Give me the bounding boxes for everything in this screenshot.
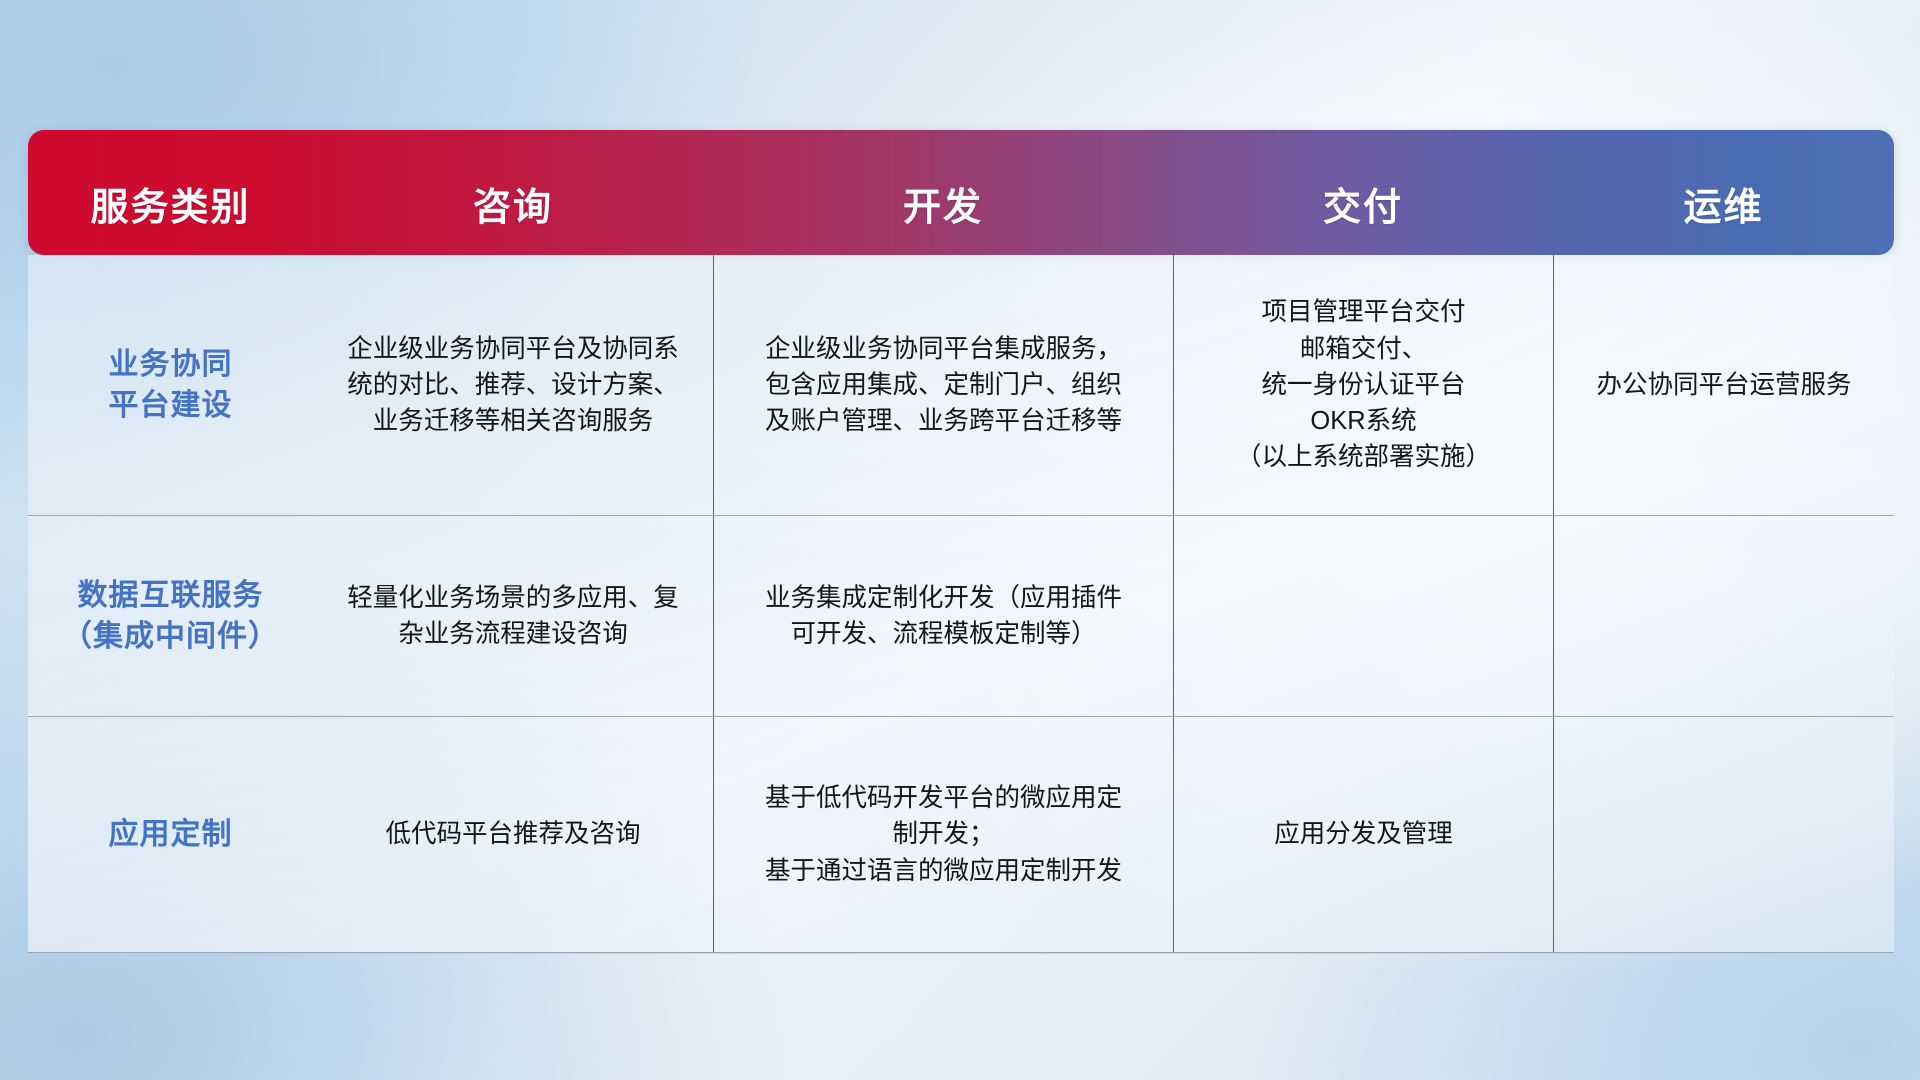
cell-consulting: 低代码平台推荐及咨询 <box>313 717 713 952</box>
table-header-row: 服务类别 咨询 开发 交付 运维 <box>28 130 1894 255</box>
cell-development: 企业级业务协同平台集成服务， 包含应用集成、定制门户、组织 及账户管理、业务跨平… <box>713 255 1173 515</box>
cell-operations: 办公协同平台运营服务 <box>1553 255 1894 515</box>
table-row: 应用定制 低代码平台推荐及咨询 基于低代码开发平台的微应用定 制开发； 基于通过… <box>28 717 1894 953</box>
cell-development: 业务集成定制化开发（应用插件 可开发、流程模板定制等） <box>713 516 1173 716</box>
cell-delivery: 应用分发及管理 <box>1173 717 1553 952</box>
service-matrix-table: 服务类别 咨询 开发 交付 运维 业务协同 平台建设 企业级业务协同平台及协同系… <box>28 130 1894 954</box>
header-development: 开发 <box>713 130 1173 255</box>
cell-operations <box>1553 717 1894 952</box>
cell-consulting: 轻量化业务场景的多应用、复 杂业务流程建设咨询 <box>313 516 713 716</box>
row-category-label: 应用定制 <box>28 717 313 952</box>
table-row: 业务协同 平台建设 企业级业务协同平台及协同系 统的对比、推荐、设计方案、 业务… <box>28 255 1894 516</box>
table-body: 业务协同 平台建设 企业级业务协同平台及协同系 统的对比、推荐、设计方案、 业务… <box>28 255 1894 954</box>
row-category-label: 数据互联服务 （集成中间件） <box>28 516 313 716</box>
cell-operations <box>1553 516 1894 716</box>
header-service-category: 服务类别 <box>28 130 313 255</box>
row-category-label: 业务协同 平台建设 <box>28 255 313 515</box>
cell-delivery: 项目管理平台交付 邮箱交付、 统一身份认证平台 OKR系统 （以上系统部署实施） <box>1173 255 1553 515</box>
cell-development: 基于低代码开发平台的微应用定 制开发； 基于通过语言的微应用定制开发 <box>713 717 1173 952</box>
header-operations: 运维 <box>1553 130 1894 255</box>
header-delivery: 交付 <box>1173 130 1553 255</box>
cell-consulting: 企业级业务协同平台及协同系 统的对比、推荐、设计方案、 业务迁移等相关咨询服务 <box>313 255 713 515</box>
cell-delivery <box>1173 516 1553 716</box>
slide-canvas: 服务类别 咨询 开发 交付 运维 业务协同 平台建设 企业级业务协同平台及协同系… <box>0 0 1920 1080</box>
header-consulting: 咨询 <box>313 130 713 255</box>
table-row: 数据互联服务 （集成中间件） 轻量化业务场景的多应用、复 杂业务流程建设咨询 业… <box>28 516 1894 717</box>
